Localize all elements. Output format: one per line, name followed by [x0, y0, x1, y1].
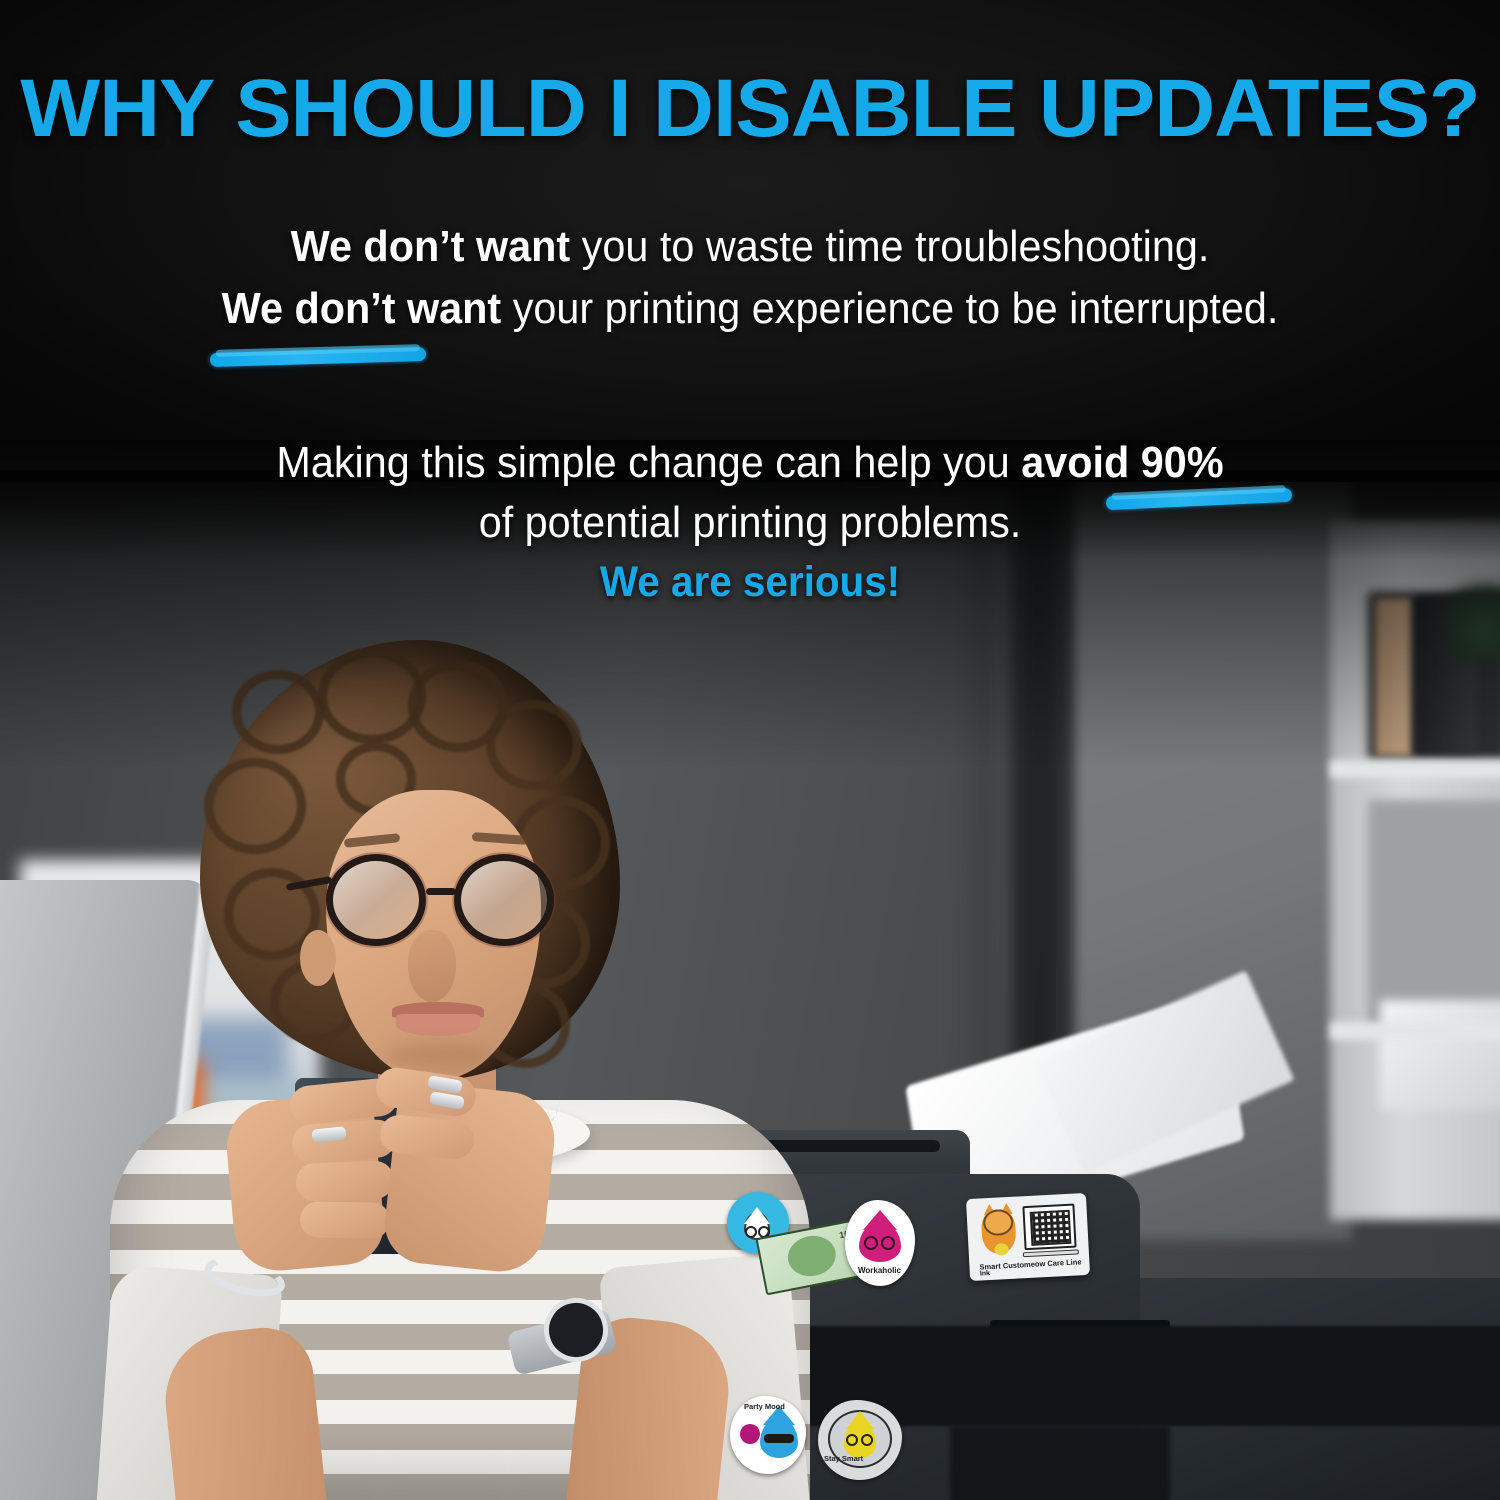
page-title: WHY SHOULD I DISABLE UPDATES?	[0, 62, 1500, 156]
body-line-4: of potential printing problems.	[45, 498, 1455, 548]
text-overlay: WHY SHOULD I DISABLE UPDATES? We don’t w…	[0, 0, 1500, 1500]
body-line-4-normal: of potential printing problems.	[479, 498, 1022, 547]
body-line-1-bold: We don’t want	[291, 222, 571, 271]
body-line-3: Making this simple change can help you a…	[45, 438, 1455, 488]
body-line-2: We don’t want your printing experience t…	[45, 284, 1455, 334]
body-line-1: We don’t want you to waste time troubles…	[45, 222, 1455, 272]
emphasis-line: We are serious!	[45, 558, 1455, 607]
marker-underline-1	[210, 347, 426, 367]
body-line-1-rest: you to waste time troubleshooting.	[570, 222, 1209, 271]
body-line-3-normal: Making this simple change can help you	[276, 438, 1021, 487]
body-line-2-rest: your printing experience to be interrupt…	[501, 284, 1278, 333]
body-line-3-bold: avoid 90%	[1021, 438, 1223, 487]
promo-poster: 100 Workaholic Smart Customeow Care Line…	[0, 0, 1500, 1500]
body-line-2-bold: We don’t want	[222, 284, 502, 333]
